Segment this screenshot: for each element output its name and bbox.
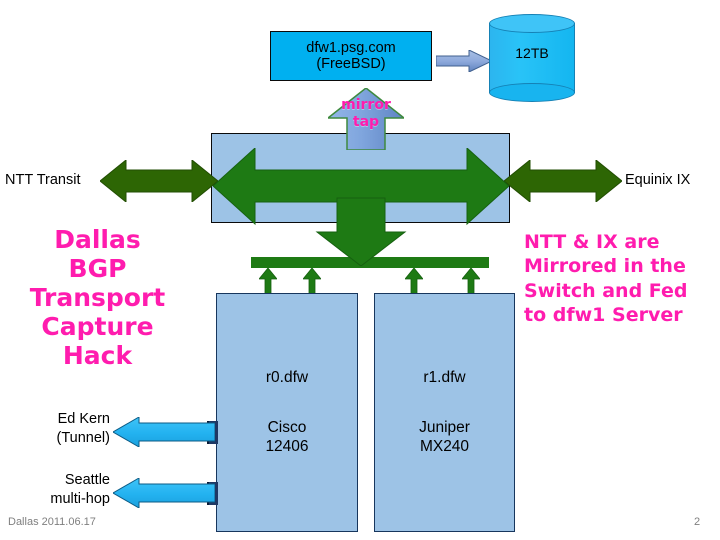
- server-hostname-label: dfw1.psg.com: [306, 40, 395, 56]
- footer-page-number: 2: [694, 516, 700, 528]
- ntt-transit-arrow-icon: [100, 160, 218, 202]
- slide-title-left: Dallas BGP Transport Capture Hack: [10, 225, 185, 370]
- slide-canvas: dfw1.psg.com (FreeBSD) 12TB: [0, 0, 720, 540]
- title-left-line5: Hack: [10, 341, 185, 370]
- equinix-ix-arrow-icon: [504, 160, 622, 202]
- label-equinix-ix: Equinix IX: [625, 172, 690, 189]
- router-left-model: 12406: [265, 437, 308, 456]
- note-right-line3: Switch and Fed: [524, 279, 716, 303]
- ed-kern-tunnel-arrow-icon: [113, 417, 215, 447]
- cylinder-top-icon: [489, 14, 575, 33]
- note-right-line4: to dfw1 Server: [524, 303, 716, 327]
- router-box-r1-dfw[interactable]: r1.dfw Juniper MX240: [374, 293, 515, 532]
- storage-capacity-label: 12TB: [489, 45, 575, 61]
- annotation-note-right: NTT & IX are Mirrored in the Switch and …: [524, 230, 716, 327]
- mirror-tap-arrow[interactable]: mirror tap: [328, 88, 404, 150]
- label-ed-kern-line2: (Tunnel): [18, 429, 110, 448]
- label-seattle-line1: Seattle: [18, 471, 110, 490]
- switch-cross-arrow-icon: [213, 148, 509, 266]
- mirror-tap-line1: mirror: [328, 97, 404, 114]
- label-seattle: Seattle multi-hop: [18, 471, 110, 508]
- router-left-vendor: Cisco: [265, 418, 308, 437]
- title-left-line3: Transport: [10, 283, 185, 312]
- note-right-line2: Mirrored in the: [524, 254, 716, 278]
- mirror-tap-line2: tap: [328, 114, 404, 131]
- server-to-storage-arrow-icon: [436, 50, 492, 72]
- router-left-name: r0.dfw: [266, 368, 308, 387]
- label-ed-kern: Ed Kern (Tunnel): [18, 410, 110, 447]
- server-box-dfw1[interactable]: dfw1.psg.com (FreeBSD): [270, 31, 432, 81]
- router-right-model: MX240: [419, 437, 470, 456]
- seattle-multihop-arrow-icon: [113, 478, 215, 508]
- router-right-vendor: Juniper: [419, 418, 470, 437]
- label-ntt-transit: NTT Transit: [5, 172, 80, 189]
- title-left-line2: BGP: [10, 254, 185, 283]
- router-right-name: r1.dfw: [423, 368, 465, 387]
- mirror-tap-label: mirror tap: [328, 97, 404, 132]
- title-left-line1: Dallas: [10, 225, 185, 254]
- router-box-r0-dfw[interactable]: r0.dfw Cisco 12406: [216, 293, 358, 532]
- storage-cylinder-12tb[interactable]: 12TB: [489, 14, 575, 102]
- server-os-label: (FreeBSD): [316, 56, 385, 72]
- note-right-line1: NTT & IX are: [524, 230, 716, 254]
- label-seattle-line2: multi-hop: [18, 490, 110, 509]
- cylinder-bottom-icon: [489, 83, 575, 102]
- footer-date: Dallas 2011.06.17: [8, 516, 96, 528]
- label-ed-kern-line1: Ed Kern: [18, 410, 110, 429]
- title-left-line4: Capture: [10, 312, 185, 341]
